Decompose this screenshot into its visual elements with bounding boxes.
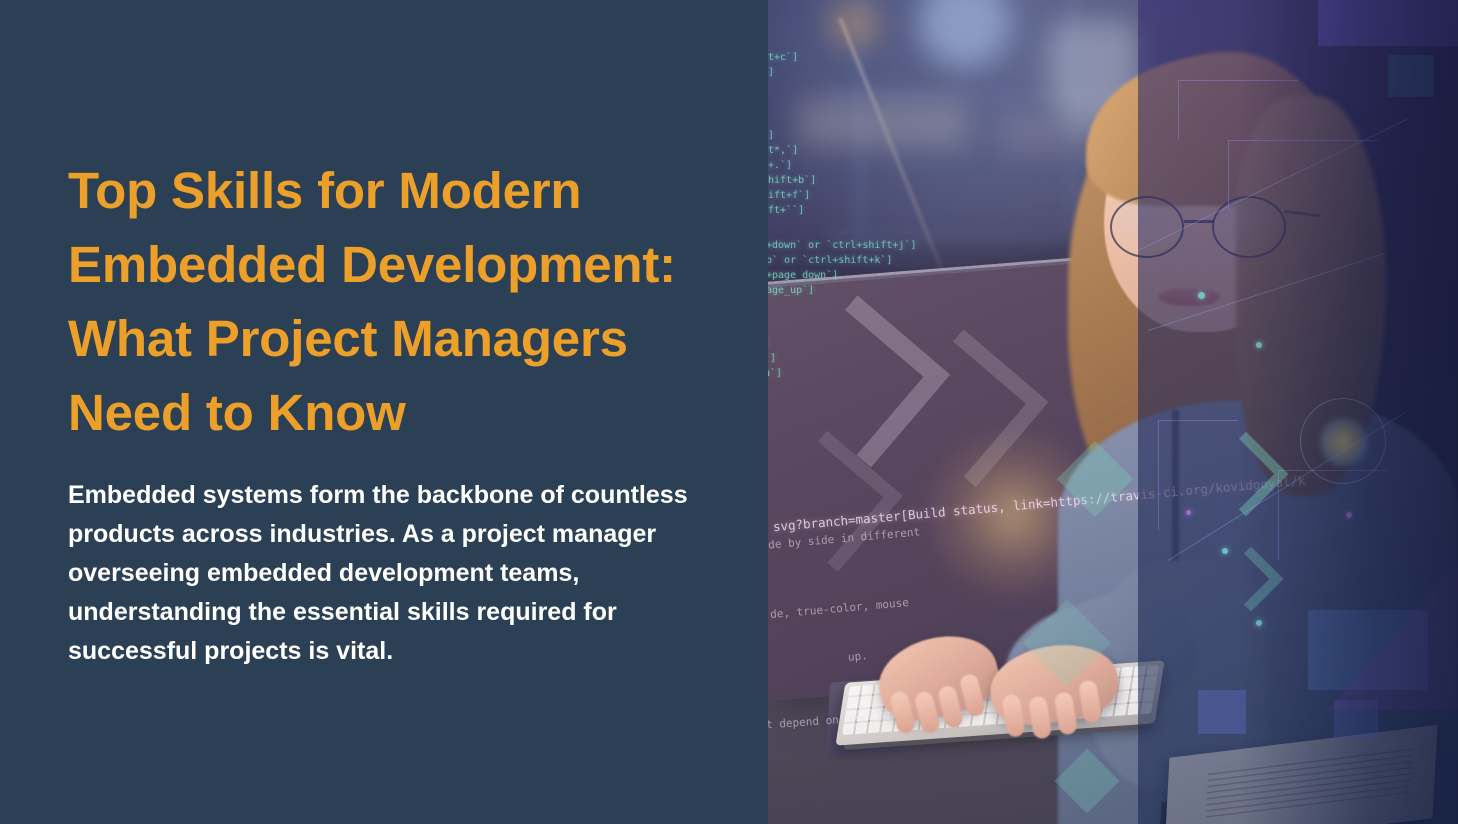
hero-banner: Top Skills for Modern Embedded Developme…	[0, 0, 1458, 824]
page-subtitle: Embedded systems form the backbone of co…	[68, 476, 710, 671]
text-panel: Top Skills for Modern Embedded Developme…	[0, 0, 768, 824]
photo-color-tint	[768, 0, 1458, 824]
page-title: Top Skills for Modern Embedded Developme…	[68, 154, 710, 450]
hero-photo: t+c`] ] ] t*,`] +.`] hift+b`] ift+f`] ft…	[768, 0, 1458, 824]
